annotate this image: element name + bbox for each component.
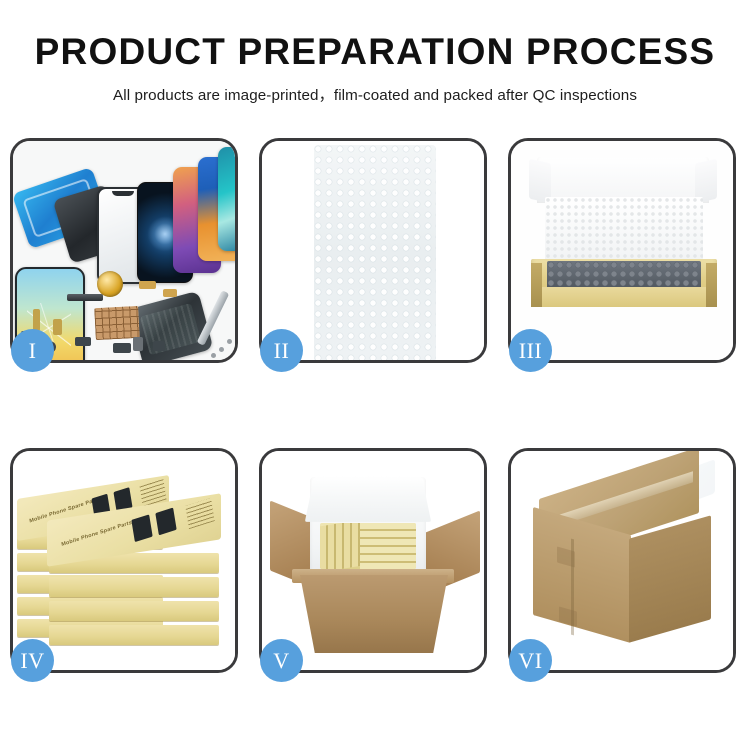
step-image-2 (262, 141, 484, 360)
box-label-text: Mobile Phone Spare Parts (61, 520, 132, 548)
carton-body-icon (300, 575, 448, 653)
yellow-tray-right-edge-icon (706, 263, 717, 307)
stacked-box-icon (49, 625, 219, 645)
step-badge-5: V (260, 639, 303, 682)
spare-part-icon (33, 309, 40, 331)
screw-icon (227, 339, 232, 344)
step-image-4: Mobile Phone Spare Parts Mobile Phone Sp… (13, 451, 235, 670)
chip-grid-icon (94, 306, 140, 340)
foam-lid-icon (305, 476, 431, 522)
yellow-tray-left-edge-icon (531, 263, 542, 307)
step-badge-3: III (509, 329, 552, 372)
stacked-box-icon (49, 601, 219, 621)
white-foam-sheet-icon (545, 197, 703, 263)
phone-parts-collage-image (13, 141, 235, 360)
page-header: PRODUCT PREPARATION PROCESS All products… (0, 0, 750, 105)
step-badge-2: II (260, 329, 303, 372)
yellow-tray-front-icon (531, 287, 717, 307)
step-image-1 (13, 141, 235, 360)
step-image-3 (511, 141, 733, 360)
spare-part-icon (133, 337, 143, 351)
page-title: PRODUCT PREPARATION PROCESS (0, 33, 750, 72)
step-badge-1: I (11, 329, 54, 372)
screw-icon (211, 353, 216, 358)
step-panel-6: VI (508, 448, 736, 673)
carton-side-face-icon (629, 515, 711, 643)
spare-part-icon (113, 343, 131, 353)
stacked-retail-boxes-image: Mobile Phone Spare Parts Mobile Phone Sp… (13, 451, 235, 670)
box-thumbnail-icon (131, 514, 152, 542)
bubble-wrapped-screen-image (262, 141, 484, 360)
spare-part-icon (139, 281, 156, 289)
open-carton-image (262, 451, 484, 670)
step-image-6 (511, 451, 733, 670)
step-badge-6: VI (509, 639, 552, 682)
spare-part-icon (153, 341, 165, 351)
speaker-bar-icon (67, 294, 103, 301)
box-thumbnail-icon (155, 508, 176, 536)
spare-part-icon (75, 337, 91, 346)
yellow-boxes-inside-icon (320, 523, 416, 569)
spare-part-icon (53, 319, 62, 335)
step-badge-4: IV (11, 639, 54, 682)
spare-part-icon (163, 289, 177, 297)
open-yellow-box-image (511, 141, 733, 360)
screw-icon (219, 347, 224, 352)
step-panel-5: V (259, 448, 487, 673)
step-panel-4: Mobile Phone Spare Parts Mobile Phone Sp… (10, 448, 238, 673)
step-panel-1: I (10, 138, 238, 363)
step-panel-2: II (259, 138, 487, 363)
step-image-5 (262, 451, 484, 670)
sealed-carton-image (511, 451, 733, 670)
box-spec-lines-icon (185, 498, 214, 529)
step-panel-3: III (508, 138, 736, 363)
teal-wave-phone-icon (218, 147, 235, 251)
stacked-box-icon (49, 577, 219, 597)
page-subtitle: All products are image-printed，film-coat… (0, 83, 750, 105)
bubble-wrap-pouch-icon (314, 145, 436, 360)
process-steps-grid: I II (10, 138, 740, 673)
